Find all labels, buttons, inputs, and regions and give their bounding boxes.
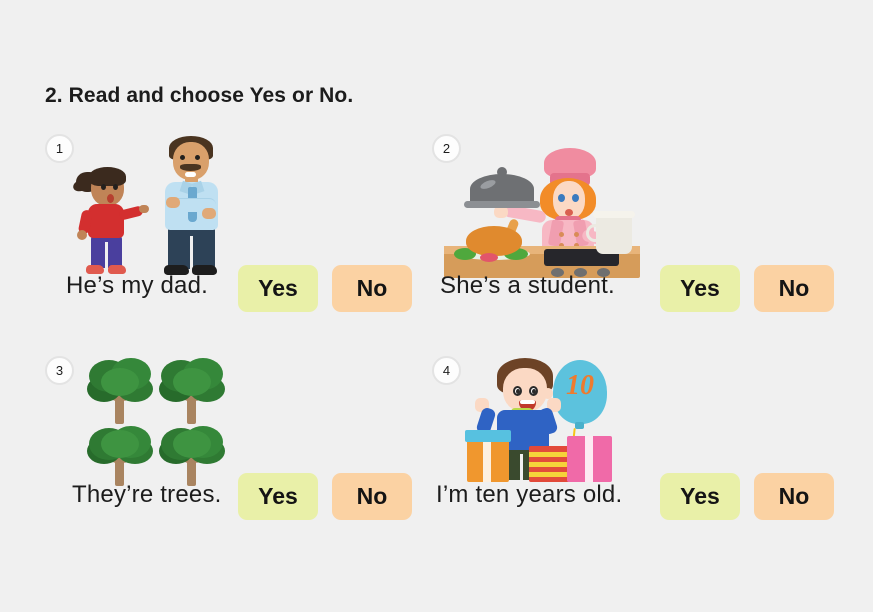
roast-turkey (466, 226, 522, 256)
exercise-title: 2. Read and choose Yes or No. (45, 84, 353, 108)
tree-icon (159, 358, 225, 426)
answer-choices: Yes No (660, 473, 834, 520)
gift-box-pink (567, 436, 612, 482)
father-eye-left (180, 155, 185, 160)
garnish-center (480, 253, 498, 262)
tree-foliage (173, 368, 211, 396)
question-sentence: She’s a student. (440, 272, 615, 300)
no-button[interactable]: No (332, 265, 412, 312)
father-hand-right (202, 208, 216, 219)
question-item-2: 2 (432, 134, 837, 324)
chef-button-3 (574, 232, 579, 237)
boy-pupil-right (532, 389, 536, 394)
gift-ribbon (483, 438, 491, 482)
tree-icon (87, 420, 153, 488)
question-sentence: I’m ten years old. (436, 481, 622, 509)
girl-shirt (88, 204, 124, 238)
father-leg-gap (190, 236, 193, 269)
girl-leg-gap (105, 242, 108, 268)
father-hand-left (166, 197, 180, 208)
answer-choices: Yes No (238, 265, 412, 312)
question-sentence: He’s my dad. (66, 272, 208, 300)
boy-teeth (520, 400, 535, 404)
serving-dome-knob (497, 167, 507, 177)
girl-eye-right (113, 184, 118, 190)
tree-foliage (173, 430, 211, 458)
chef-mouth (565, 209, 573, 216)
father-figure (155, 136, 227, 278)
tree-group (87, 358, 229, 494)
question-item-3: 3 (45, 356, 435, 531)
father-eye-right (195, 155, 200, 160)
yes-button[interactable]: Yes (238, 473, 318, 520)
cooking-pot-rim (593, 211, 635, 218)
gift-ribbon (585, 436, 593, 482)
girl-hair (89, 167, 126, 186)
tree-icon (159, 420, 225, 488)
gift-box-orange (467, 438, 509, 482)
balloon-number: 10 (553, 370, 607, 402)
girl-pointing-hand (139, 205, 149, 213)
girl-mouth (107, 194, 114, 203)
question-item-4: 4 10 (432, 356, 837, 531)
no-button[interactable]: No (754, 473, 834, 520)
girl-figure (75, 164, 137, 276)
serving-dome (470, 174, 534, 204)
father-mustache (180, 164, 201, 171)
chef-eye-right (572, 194, 579, 202)
question-number-badge: 2 (432, 134, 461, 163)
question-number-badge: 3 (45, 356, 74, 385)
yes-button[interactable]: Yes (660, 473, 740, 520)
illustration-birthday-boy: 10 (467, 358, 612, 486)
chef-button-1 (559, 232, 564, 237)
girl-eye-left (101, 184, 106, 190)
question-number-badge: 4 (432, 356, 461, 385)
yes-button[interactable]: Yes (660, 265, 740, 312)
boy-ear (543, 388, 553, 399)
serving-dome-tray (464, 201, 540, 208)
question-number-badge: 1 (45, 134, 74, 163)
boy-pupil-left (516, 389, 520, 394)
birthday-scene: 10 (467, 358, 612, 486)
question-sentence: They’re trees. (72, 481, 222, 509)
balloon-knot (575, 422, 584, 429)
answer-choices: Yes No (238, 473, 412, 520)
cooking-pot (596, 214, 632, 254)
tree-icon (87, 358, 153, 426)
no-button[interactable]: No (754, 265, 834, 312)
gift-box-lid-blue (465, 430, 511, 442)
worksheet: 2. Read and choose Yes or No. 1 (0, 0, 873, 612)
illustration-chef-cooking (444, 148, 644, 278)
illustration-girl-and-father (67, 136, 242, 278)
tree-foliage (101, 430, 139, 458)
boy-leg-gap (520, 454, 523, 480)
answer-choices: Yes No (660, 265, 834, 312)
illustration-four-trees (87, 358, 229, 494)
chef-eye-left (558, 194, 565, 202)
tree-foliage (101, 368, 139, 396)
yes-button[interactable]: Yes (238, 265, 318, 312)
question-item-1: 1 (45, 134, 435, 324)
girl-hand-left (77, 230, 87, 240)
no-button[interactable]: No (332, 473, 412, 520)
